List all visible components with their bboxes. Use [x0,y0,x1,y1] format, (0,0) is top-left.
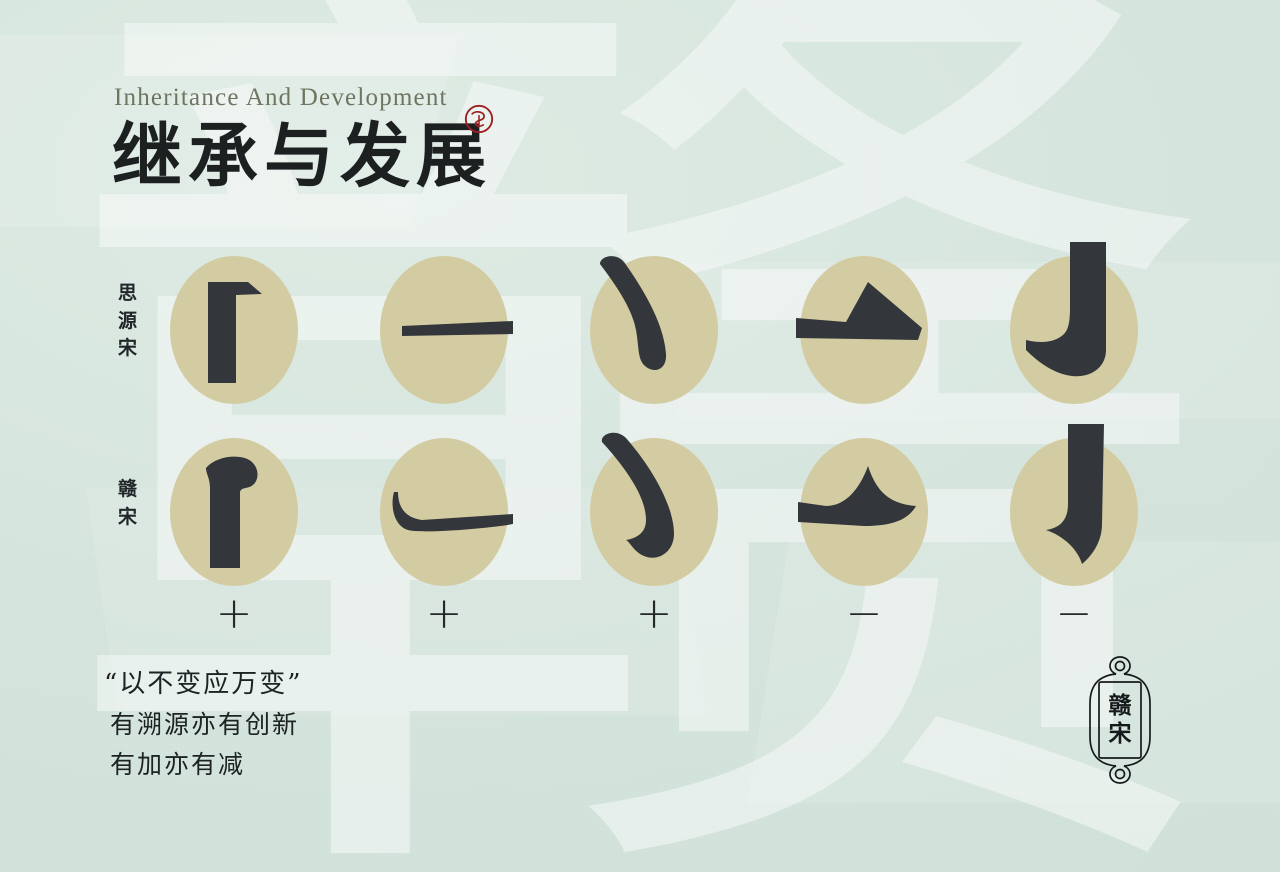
curved-heng-stroke [372,428,516,596]
poster-canvas: 赣 Inheritance And Development 继承与发展 思 源 … [0,0,1280,872]
glyph-cell[interactable] [1002,428,1146,596]
quote-line: 有溯源亦有创新 [104,705,303,745]
row-label-char: 源 [106,308,150,336]
curved-pie-stroke [582,246,726,414]
horizontal-heng-stroke [372,246,516,414]
glyph-cell[interactable] [792,246,936,414]
glyph-cell[interactable] [582,246,726,414]
operator-row: + + + − − [0,592,1280,648]
operator-symbol: − [792,592,936,636]
brand-cartouche[interactable]: 赣 宋 [1072,654,1168,786]
glyph-cell[interactable] [162,428,306,596]
glyph-cell[interactable] [1002,246,1146,414]
glyph-cell[interactable] [162,246,306,414]
row-label-source-han: 思 源 宋 [106,280,150,363]
poster-header: Inheritance And Development 继承与发展 [112,84,492,194]
operator-symbol: − [1002,592,1146,636]
row-label-gan-song: 赣 宋 [106,476,150,531]
row-label-char: 宋 [106,504,150,532]
quote-line: 有加亦有减 [104,745,303,785]
operator-symbol: + [162,592,306,636]
glyph-cell[interactable] [582,428,726,596]
hooked-pie-stroke [582,428,726,596]
brand-text: 赣 宋 [1072,654,1168,786]
vertical-hook-stroke [1002,246,1146,414]
page-title: 继承与发展 [112,118,492,194]
quote-line: “以不变应万变” [104,664,303,705]
soft-vertical-stroke [162,428,306,596]
row-label-char: 思 [106,280,150,308]
comparison-row-source-han: 思 源 宋 [0,246,1280,414]
row-label-char: 赣 [106,476,150,504]
vertical-with-flare-stroke [162,246,306,414]
english-title: Inheritance And Development [114,84,492,112]
comparison-row-gan-song: 赣 宋 [0,428,1280,596]
row-label-char: 宋 [106,335,150,363]
brand-char: 宋 [1109,720,1132,748]
operator-symbol: + [372,592,516,636]
glyph-cell[interactable] [792,428,936,596]
red-seal-icon [462,102,496,136]
pointed-hook-stroke [1002,428,1146,596]
footer-quote: “以不变应万变” 有溯源亦有创新 有加亦有减 [104,664,303,784]
glyph-cell[interactable] [372,246,516,414]
glyph-cell[interactable] [372,428,516,596]
chinese-title-group: 继承与发展 [112,118,492,194]
brand-char: 赣 [1109,692,1132,720]
wavy-na-stroke [792,428,936,596]
triangular-na-stroke [792,246,936,414]
operator-symbol: + [582,592,726,636]
